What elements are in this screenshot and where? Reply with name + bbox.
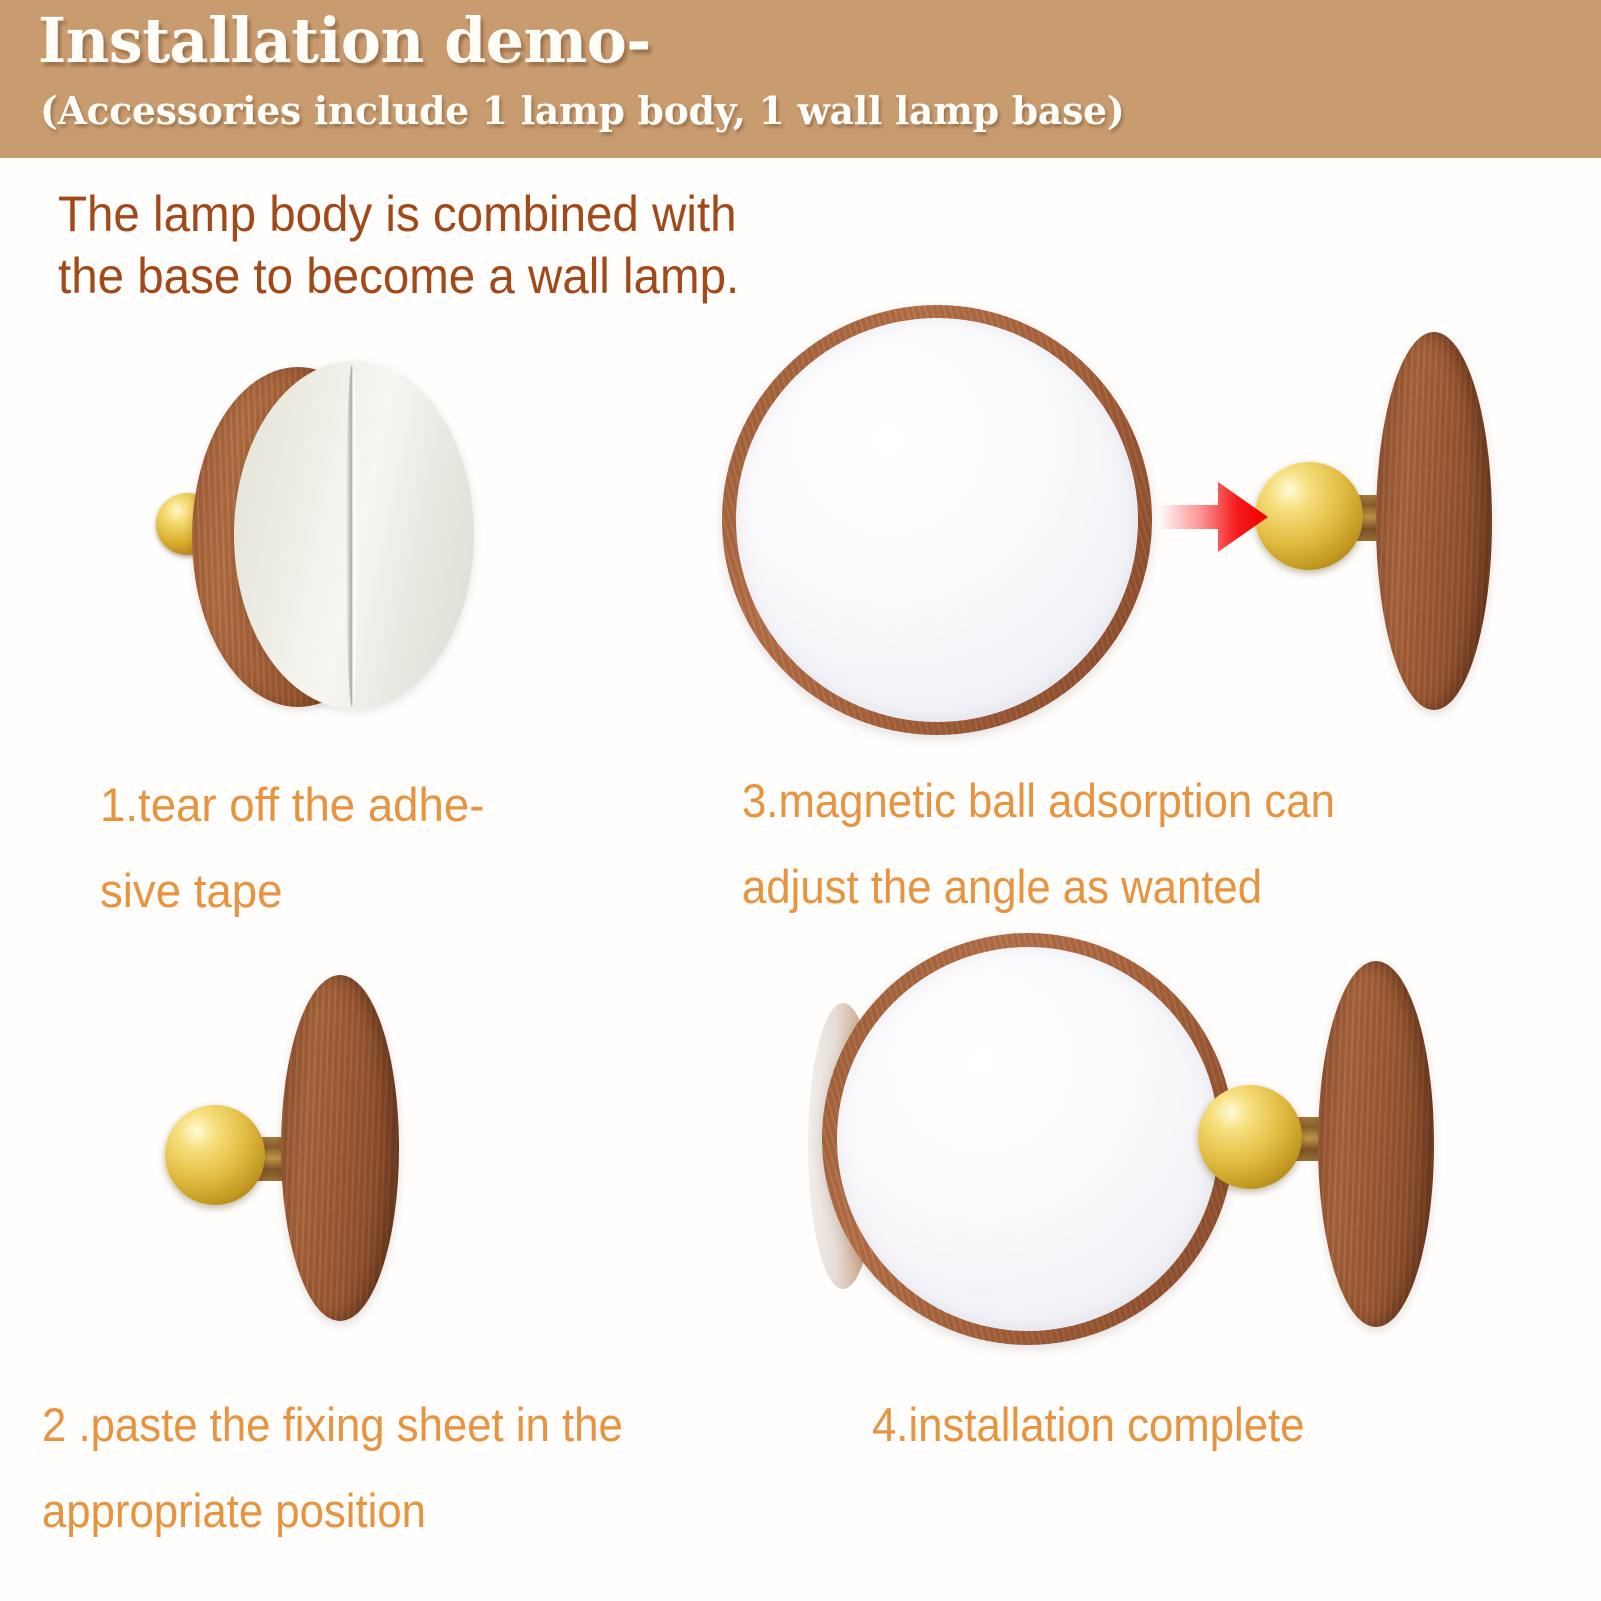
intro-line-1: The lamp body is combined with <box>58 183 856 245</box>
step-3-caption-line-2: adjust the angle as wanted <box>742 844 1335 930</box>
step-1-caption-line-2: sive tape <box>100 848 484 934</box>
lamp-body <box>722 305 1152 735</box>
magnetic-ball <box>1198 1085 1302 1189</box>
wall-lamp-base <box>1318 961 1434 1327</box>
step-2-caption: 2 .paste the fixing sheet in the appropr… <box>42 1382 623 1554</box>
step-2-caption-line-1: 2 .paste the fixing sheet in the <box>42 1382 623 1468</box>
magnetic-ball <box>1255 462 1363 570</box>
page-subtitle: (Accessories include 1 lamp body, 1 wall… <box>40 88 1124 133</box>
step-1-caption: 1.tear off the adhe- sive tape <box>100 762 484 934</box>
step-3-caption-line-1: 3.magnetic ball adsorption can <box>742 758 1335 844</box>
lamp-body <box>822 933 1234 1345</box>
intro-description: The lamp body is combined with the base … <box>58 183 856 307</box>
step-1-image <box>150 355 480 715</box>
red-right-arrow-icon <box>1160 480 1268 554</box>
header-banner: Installation demo- (Accessories include … <box>0 0 1601 158</box>
step-4-image <box>800 925 1490 1355</box>
step-2-image <box>155 955 495 1325</box>
step-4-caption: 4.installation complete <box>872 1382 1304 1468</box>
lamp-diffuser <box>837 947 1219 1331</box>
step-2-caption-line-2: appropriate position <box>42 1468 623 1554</box>
page-title: Installation demo- <box>38 4 651 77</box>
adhesive-film-crease <box>346 365 358 707</box>
wall-lamp-base <box>1376 332 1492 710</box>
step-4-caption-line-1: 4.installation complete <box>872 1382 1304 1468</box>
lamp-diffuser <box>736 318 1138 722</box>
magnetic-ball <box>165 1105 265 1205</box>
step-1-caption-line-1: 1.tear off the adhe- <box>100 762 484 848</box>
step-3-image <box>700 305 1490 725</box>
intro-line-2: the base to become a wall lamp. <box>58 245 856 307</box>
step-3-caption: 3.magnetic ball adsorption can adjust th… <box>742 758 1335 930</box>
wall-lamp-base <box>281 975 399 1321</box>
